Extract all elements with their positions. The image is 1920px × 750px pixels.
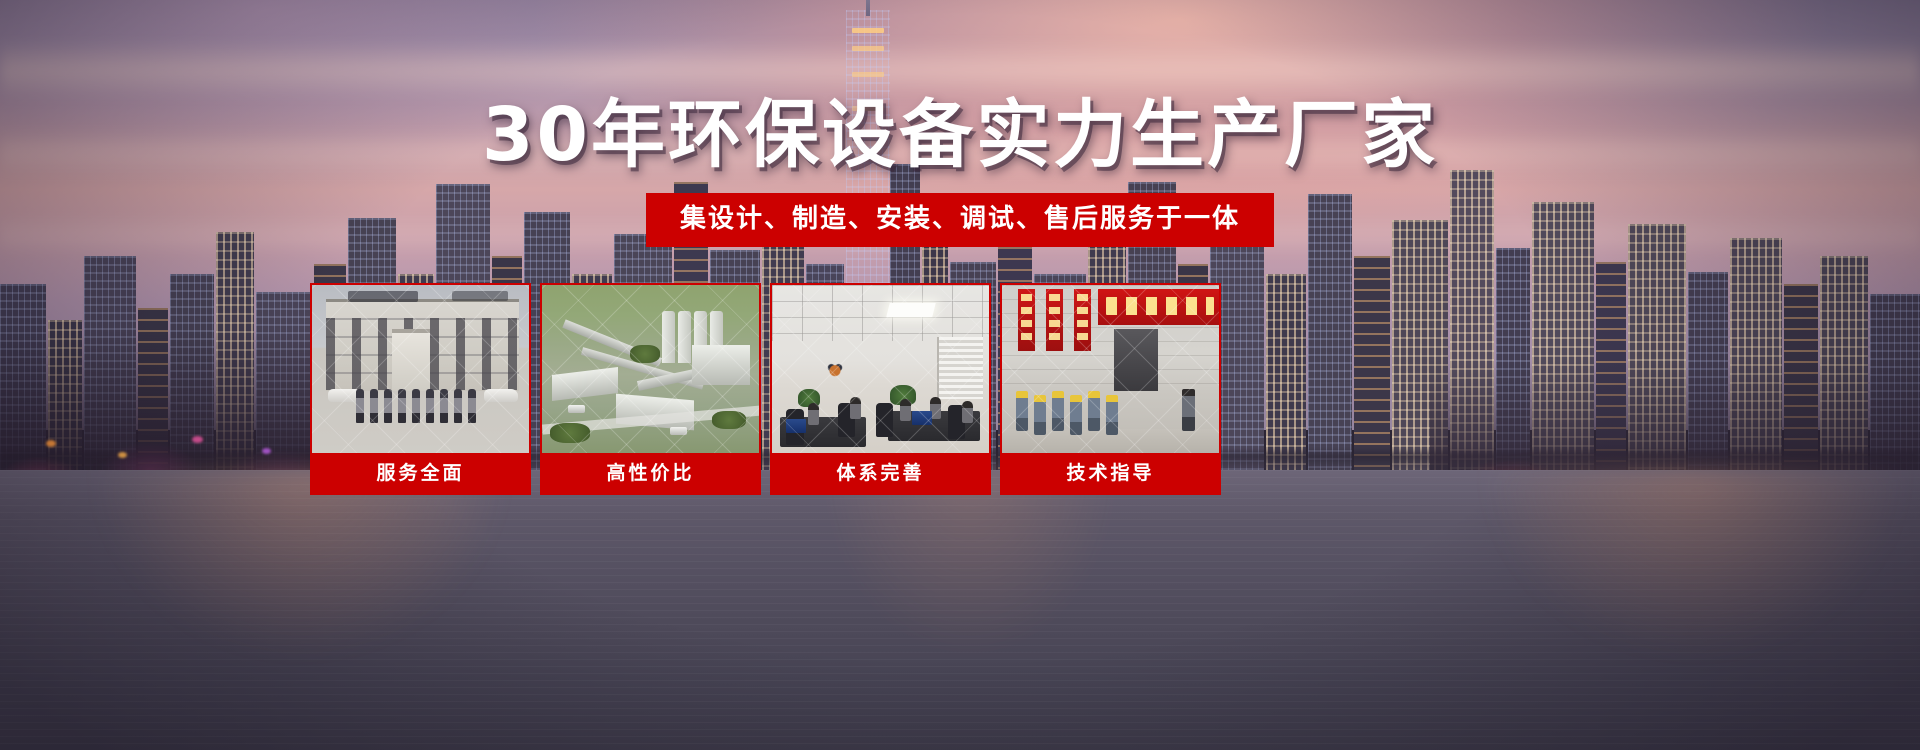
worker <box>1070 395 1082 435</box>
subtitle-bar-wrapper: 集设计、制造、安装、调试、售后服务于一体 <box>0 193 1920 247</box>
feature-card-list: 服务全面 高性价比 <box>310 283 1260 495</box>
building-sign-right <box>452 291 508 301</box>
ceiling-light <box>886 303 935 317</box>
feature-card[interactable]: 服务全面 <box>310 283 531 495</box>
building <box>1266 274 1306 470</box>
staff-person <box>468 389 476 423</box>
aerial-industrial-plant-photo <box>542 285 759 457</box>
worker <box>1106 395 1118 435</box>
building-entrance <box>392 329 430 391</box>
staff-person <box>426 389 434 423</box>
staff-person <box>412 389 420 423</box>
office-worker <box>962 401 973 423</box>
hero-banner: 30年环保设备实力生产厂家 集设计、制造、安装、调试、售后服务于一体 <box>0 0 1920 750</box>
company-headquarters-staff-photo <box>312 285 529 457</box>
laptop <box>912 411 932 425</box>
greenery <box>550 423 590 443</box>
office-chair <box>876 403 893 437</box>
feature-card-label: 技术指导 <box>1002 453 1219 493</box>
plant-shed <box>692 345 750 385</box>
worker <box>1088 391 1100 431</box>
staff-person <box>370 389 378 423</box>
worker <box>1034 395 1046 435</box>
truck <box>568 405 585 413</box>
park-light <box>192 436 203 443</box>
feature-card-label: 高性价比 <box>542 453 759 493</box>
staff-person <box>384 389 392 423</box>
feature-card-label: 体系完善 <box>772 453 989 493</box>
feature-card[interactable]: 高性价比 <box>540 283 761 495</box>
greenery <box>712 411 746 429</box>
feature-card-label: 服务全面 <box>312 453 529 493</box>
staff-person <box>398 389 406 423</box>
storage-silo <box>678 311 691 363</box>
water-reflection-mid <box>820 470 1120 660</box>
plant-shed <box>552 367 618 401</box>
parked-car <box>484 389 518 402</box>
factory-vertical-banner <box>1074 289 1091 351</box>
tower-light <box>852 46 884 51</box>
page-title: 30年环保设备实力生产厂家 <box>0 98 1920 172</box>
feature-card[interactable]: 体系完善 <box>770 283 991 495</box>
office-worker <box>808 403 819 425</box>
laptop <box>786 419 806 433</box>
factory-workers-helmets-photo <box>1002 285 1219 457</box>
office-interior-team-photo <box>772 285 989 457</box>
water-reflection-right <box>1480 470 1910 660</box>
park-light <box>262 448 271 454</box>
staff-person <box>356 389 364 423</box>
tower-light <box>852 72 884 77</box>
staff-person <box>454 389 462 423</box>
wall-decal <box>822 357 848 379</box>
truck <box>670 427 687 435</box>
park-light <box>118 452 127 458</box>
factory-vertical-banner <box>1018 289 1035 351</box>
building <box>1354 256 1390 470</box>
supervisor <box>1182 389 1195 431</box>
worker <box>1052 391 1064 431</box>
storage-silo <box>662 311 675 363</box>
tower-spire <box>866 0 870 16</box>
greenery <box>630 345 660 363</box>
worker <box>1016 391 1028 431</box>
tower-light <box>852 28 884 33</box>
staff-person <box>440 389 448 423</box>
water-reflection-left <box>90 470 510 660</box>
building-sign-left <box>348 291 418 302</box>
office-worker <box>850 397 861 419</box>
window-blinds <box>937 337 983 399</box>
feature-card[interactable]: 技术指导 <box>1000 283 1221 495</box>
factory-red-banner <box>1098 289 1219 325</box>
subtitle-badge: 集设计、制造、安装、调试、售后服务于一体 <box>646 193 1274 247</box>
factory-door <box>1114 329 1158 391</box>
office-worker <box>900 399 911 421</box>
factory-vertical-banner <box>1046 289 1063 351</box>
park-light <box>46 440 56 447</box>
office-ceiling <box>772 285 989 341</box>
